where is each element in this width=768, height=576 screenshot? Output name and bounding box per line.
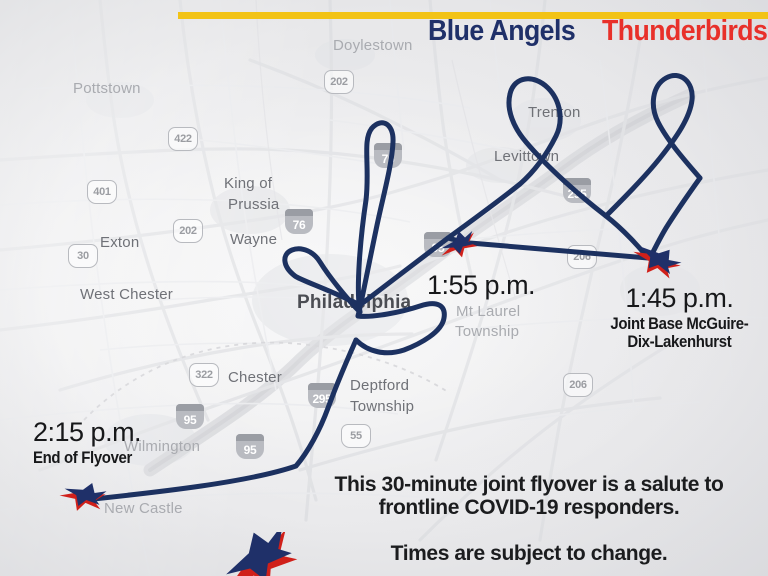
callout-time: 1:55 p.m.	[427, 272, 535, 299]
callout-sublabel: Joint Base McGuire- Dix-Lakenhurst	[610, 315, 748, 352]
callout-sublabel: End of Flyover	[33, 449, 132, 467]
caption-line2: frontline COVID-19 responders.	[314, 496, 744, 520]
caption-block: This 30-minute joint flyover is a salute…	[314, 473, 744, 520]
flyover-map-graphic: Blue Angels Thunderbirds DoylestownPotts…	[0, 0, 768, 576]
jet-icon-bottom-decorative	[214, 532, 302, 576]
callout-time: 2:15 p.m.	[33, 419, 145, 446]
callout-sublabel-line1: Joint Base McGuire-	[610, 315, 748, 333]
callout-philadelphia: 1:55 p.m.	[427, 272, 535, 299]
jet-icon-mcguire	[630, 240, 682, 282]
callout-end-of-flyover: 2:15 p.m. End of Flyover	[33, 419, 145, 467]
callout-mcguire: 1:45 p.m. Joint Base McGuire- Dix-Lakenh…	[601, 285, 758, 352]
callout-time: 1:45 p.m.	[601, 285, 758, 312]
callout-sublabel-line2: Dix-Lakenhurst	[610, 333, 748, 351]
jet-icon-philadelphia	[436, 228, 480, 262]
caption-disclaimer: Times are subject to change.	[314, 542, 744, 566]
jet-icon-end-of-flyover	[58, 478, 108, 516]
caption-line1: This 30-minute joint flyover is a salute…	[335, 473, 724, 496]
